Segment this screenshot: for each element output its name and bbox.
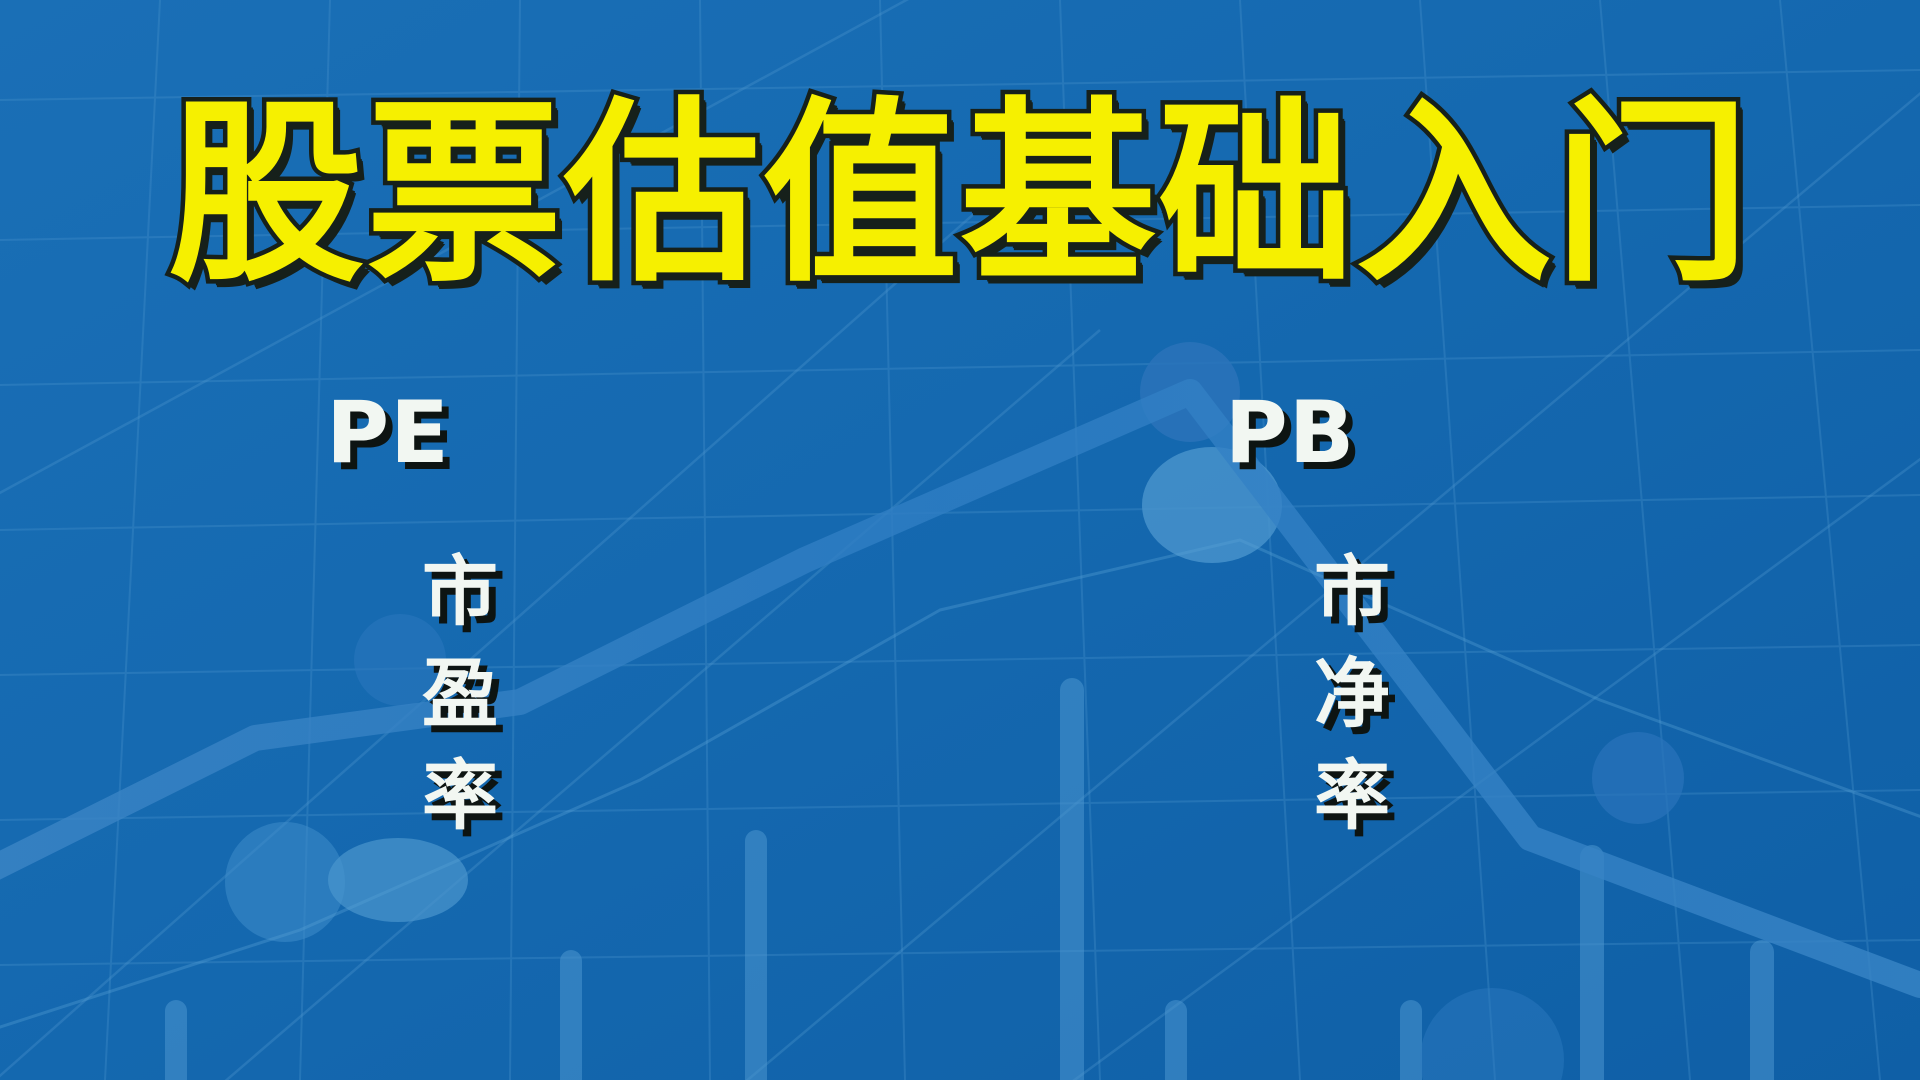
metric-abbr-pe: PE — [326, 390, 450, 476]
metric-chinese-pb: 市 净 率 — [1314, 554, 1390, 834]
metric-char: 率 — [1314, 758, 1390, 834]
metric-abbr-pb: PB — [1225, 390, 1356, 476]
metric-char: 净 — [1314, 656, 1390, 732]
title-text: 股票估值基础入门 — [168, 96, 1752, 296]
metric-char: 市 — [1314, 554, 1390, 630]
metric-column-pb: PB 市 净 率 — [970, 390, 1610, 834]
metric-char: 盈 — [422, 656, 498, 732]
metric-char: 市 — [422, 554, 498, 630]
metric-chinese-pe: 市 盈 率 — [422, 554, 498, 834]
metrics-row: PE 市 盈 率 PB 市 净 率 PS 市 销 率 — [0, 390, 1920, 834]
metric-column-pe: PE 市 盈 率 — [68, 390, 708, 834]
poster-title: 股票估值基础入门 — [0, 96, 1920, 296]
metric-column-ps: PS 市 销 率 — [1835, 390, 1920, 834]
metric-char: 率 — [422, 758, 498, 834]
poster-canvas: 股票估值基础入门 PE 市 盈 率 PB 市 净 率 PS 市 销 率 — [0, 0, 1920, 1080]
